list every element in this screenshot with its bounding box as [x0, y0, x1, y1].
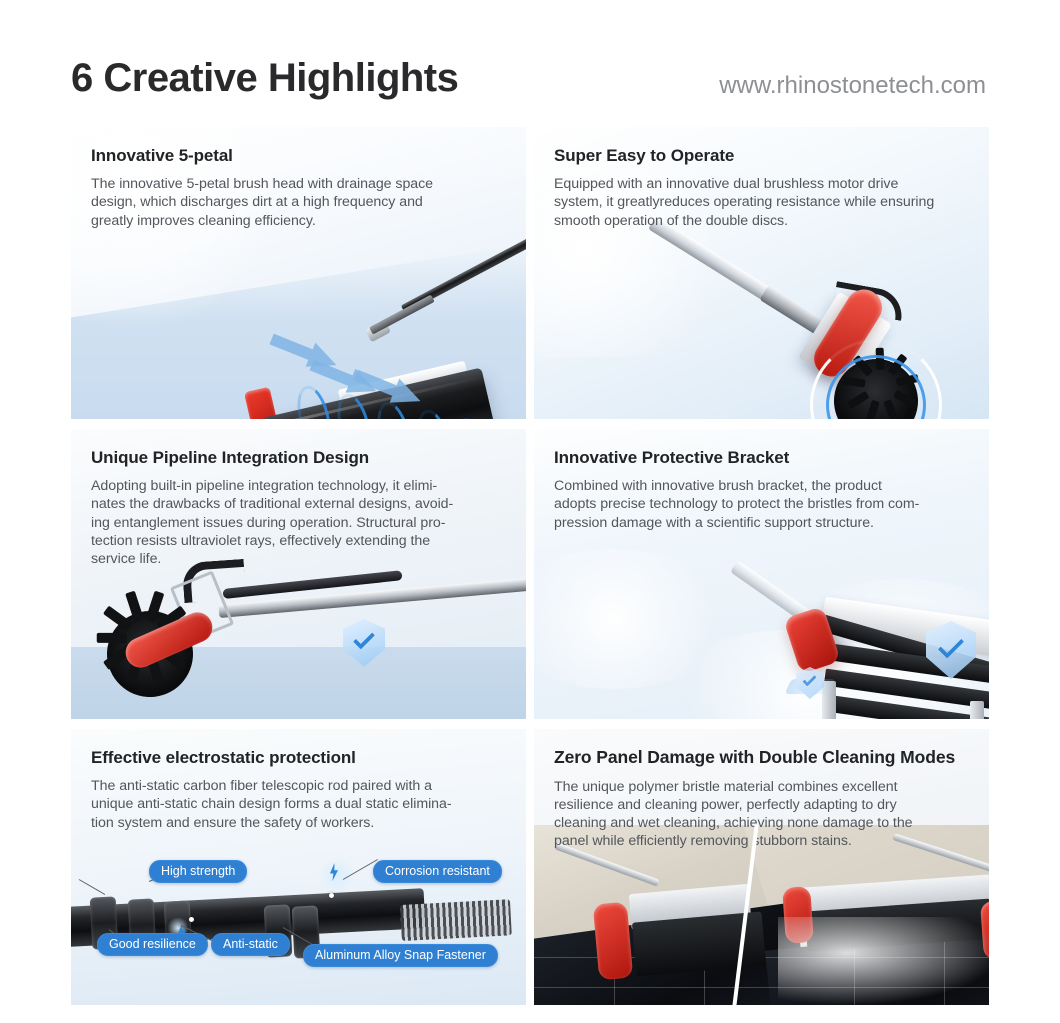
card5-body: The anti-static carbon fiber telescopic …	[91, 777, 506, 832]
card2-text: Super Easy to Operate Equipped with an i…	[534, 127, 989, 230]
card6-text: Zero Panel Damage with Double Cleaning M…	[534, 729, 989, 851]
page-header: 6 Creative Highlights www.rhinostonetech…	[0, 0, 1060, 125]
card5-callout-dot	[189, 917, 194, 922]
card6-photo	[534, 825, 989, 1005]
shield-check-icon	[343, 619, 385, 667]
label-high-strength[interactable]: High strength	[149, 860, 247, 883]
highlight-card-effective-electrostatic-protection[interactable]: High strength Corrosion resistant Good r…	[71, 729, 526, 1005]
card6-title: Zero Panel Damage with Double Cleaning M…	[554, 747, 969, 769]
highlight-card-zero-panel-damage[interactable]: Zero Panel Damage with Double Cleaning M…	[534, 729, 989, 1005]
card6-water-spray	[778, 917, 989, 1005]
card6-body: The unique polymer bristle material comb…	[554, 778, 969, 851]
card4-title: Innovative Protective Bracket	[554, 447, 969, 468]
site-url: www.rhinostonetech.com	[719, 72, 986, 100]
shield-check-icon	[926, 621, 976, 679]
card5-title: Effective electrostatic protectionl	[91, 747, 506, 768]
card3-title: Unique Pipeline Integration Design	[91, 447, 506, 468]
card1-title: Innovative 5-petal	[91, 145, 506, 166]
card2-title: Super Easy to Operate	[554, 145, 969, 166]
card3-bristle-blade	[146, 591, 165, 623]
card4-text: Innovative Protective Bracket Combined w…	[534, 429, 989, 532]
card1-text: Innovative 5-petal The innovative 5-peta…	[71, 127, 526, 230]
card4-support-leg	[970, 701, 984, 719]
card3-bristle-blade	[103, 606, 133, 632]
shield-check-icon	[796, 667, 824, 699]
card2-body: Equipped with an innovative dual brushle…	[554, 175, 969, 230]
card3-body: Adopting built-in pipeline integration t…	[91, 477, 506, 568]
card6-left-red-cap	[593, 902, 633, 981]
highlight-card-innovative-5-petal[interactable]: Innovative 5-petal The innovative 5-peta…	[71, 127, 526, 419]
card3-bristle-blade	[125, 591, 144, 623]
highlight-card-innovative-protective-bracket[interactable]: Innovative Protective Bracket Combined w…	[534, 429, 989, 719]
highlight-card-super-easy-to-operate[interactable]: Super Easy to Operate Equipped with an i…	[534, 127, 989, 419]
highlight-card-unique-pipeline-integration-design[interactable]: Unique Pipeline Integration Design Adopt…	[71, 429, 526, 719]
label-anti-static[interactable]: Anti-static	[211, 933, 290, 956]
card5-text: Effective electrostatic protectionl The …	[71, 729, 526, 832]
card1-body: The innovative 5-petal brush head with d…	[91, 175, 506, 230]
label-corrosion-resistant[interactable]: Corrosion resistant	[373, 860, 502, 883]
card3-bristle-blade	[97, 633, 127, 643]
card5-callout-dot	[329, 893, 334, 898]
card3-text: Unique Pipeline Integration Design Adopt…	[71, 429, 526, 568]
label-aluminum-alloy-snap-fastener[interactable]: Aluminum Alloy Snap Fastener	[303, 944, 498, 967]
label-good-resilience[interactable]: Good resilience	[97, 933, 208, 956]
card4-body: Combined with innovative brush bracket, …	[554, 477, 969, 532]
highlights-grid: Innovative 5-petal The innovative 5-peta…	[71, 127, 989, 985]
highlights-page: 6 Creative Highlights www.rhinostonetech…	[0, 0, 1060, 1023]
page-title: 6 Creative Highlights	[71, 56, 458, 100]
card5-leader-line	[79, 879, 105, 895]
card5-rod-spring-section	[400, 899, 512, 941]
